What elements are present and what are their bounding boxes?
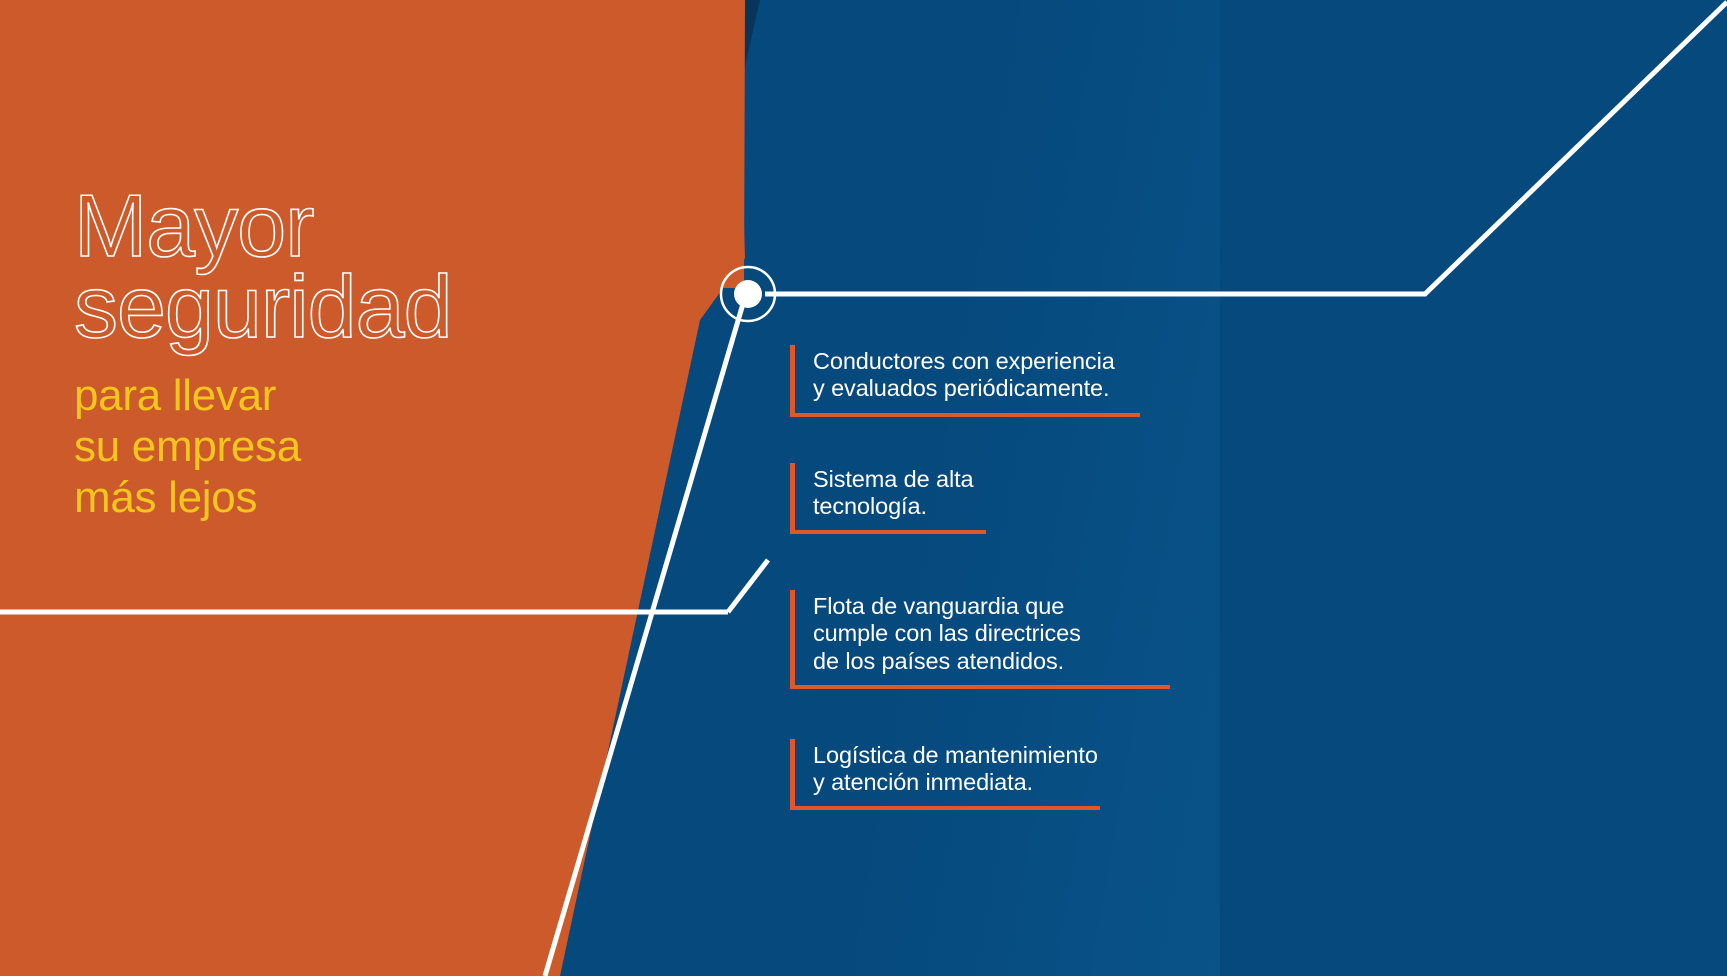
feature-list: Conductores con experiencia y evaluados … xyxy=(790,345,1220,852)
headline-line-2: seguridad xyxy=(74,267,694,348)
feature-underline xyxy=(790,530,986,534)
feature-1-line-1: Conductores con experiencia xyxy=(813,348,1115,374)
feature-underline xyxy=(790,806,1100,810)
feature-item-sistema: Sistema de alta tecnología. xyxy=(790,463,1220,535)
feature-3-line-3: de los países atendidos. xyxy=(813,648,1064,674)
feature-1-line-2: y evaluados periódicamente. xyxy=(813,375,1109,401)
feature-3-line-1: Flota de vanguardia que xyxy=(813,593,1064,619)
subtitle-line-2: su empresa xyxy=(74,421,634,472)
feature-underline xyxy=(790,685,1170,689)
subtitle-line-3: más lejos xyxy=(74,472,634,523)
feature-item-flota: Flota de vanguardia que cumple con las d… xyxy=(790,590,1220,689)
feature-2-line-2: tecnología. xyxy=(813,493,927,519)
feature-3-line-2: cumple con las directrices xyxy=(813,620,1081,646)
feature-item-logistica: Logística de mantenimiento y atención in… xyxy=(790,739,1220,811)
feature-2-line-1: Sistema de alta xyxy=(813,466,973,492)
slide-canvas: MENEG TRANSPORTES xyxy=(0,0,1727,976)
feature-underline xyxy=(790,413,1140,417)
feature-item-conductores: Conductores con experiencia y evaluados … xyxy=(790,345,1220,417)
page-subtitle: para llevar su empresa más lejos xyxy=(74,370,634,523)
page-title: Mayor seguridad xyxy=(74,186,694,348)
subtitle-line-1: para llevar xyxy=(74,370,634,421)
feature-4-line-2: y atención inmediata. xyxy=(813,769,1033,795)
feature-4-line-1: Logística de mantenimiento xyxy=(813,742,1098,768)
headline-line-1: Mayor xyxy=(74,186,694,267)
